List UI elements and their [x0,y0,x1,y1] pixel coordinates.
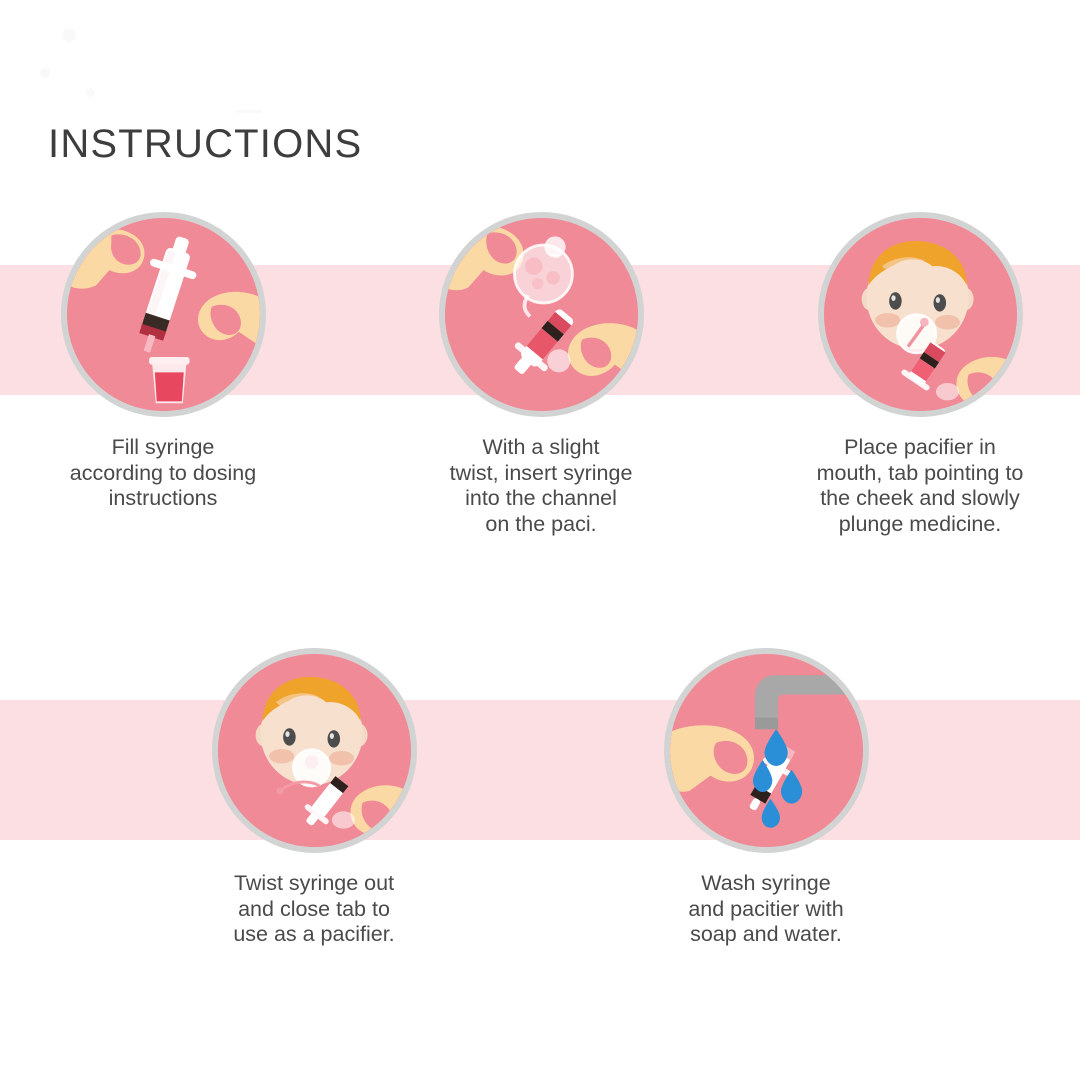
step-3: Place pacifier in mouth, tab pointing to… [800,212,1040,537]
twisting-syringe-out-of-pacifier-icon [218,654,411,847]
step-4-illustration [212,648,417,853]
instructions-page: INSTRUCTIONS [0,0,1080,1080]
step-5: Wash syringe and pacitier with soap and … [646,648,886,948]
scan-artifact [62,28,76,42]
step-3-caption: Place pacifier in mouth, tab pointing to… [800,435,1040,537]
page-title: INSTRUCTIONS [48,122,362,167]
step-3-illustration [818,212,1023,417]
step-1-caption: Fill syringe according to dosing instruc… [43,435,283,512]
step-4: Twist syringe out and close tab to use a… [194,648,434,948]
baby-with-pacifier-and-syringe-icon [824,218,1017,411]
inserting-syringe-into-pacifier-icon [445,218,638,411]
scan-artifact [40,68,50,78]
washing-syringe-under-faucet-icon [670,654,863,847]
step-2-caption: With a slight twist, insert syringe into… [421,435,661,537]
hand-filling-syringe-from-cup-icon [67,218,260,411]
scan-artifact [86,88,95,97]
step-5-illustration [664,648,869,853]
step-5-caption: Wash syringe and pacitier with soap and … [646,871,886,948]
scan-artifact [236,110,262,113]
step-1-illustration [61,212,266,417]
step-1: Fill syringe according to dosing instruc… [43,212,283,512]
step-2-illustration [439,212,644,417]
step-2: With a slight twist, insert syringe into… [421,212,661,537]
decorative-band-bottom [0,700,1080,840]
step-4-caption: Twist syringe out and close tab to use a… [194,871,434,948]
